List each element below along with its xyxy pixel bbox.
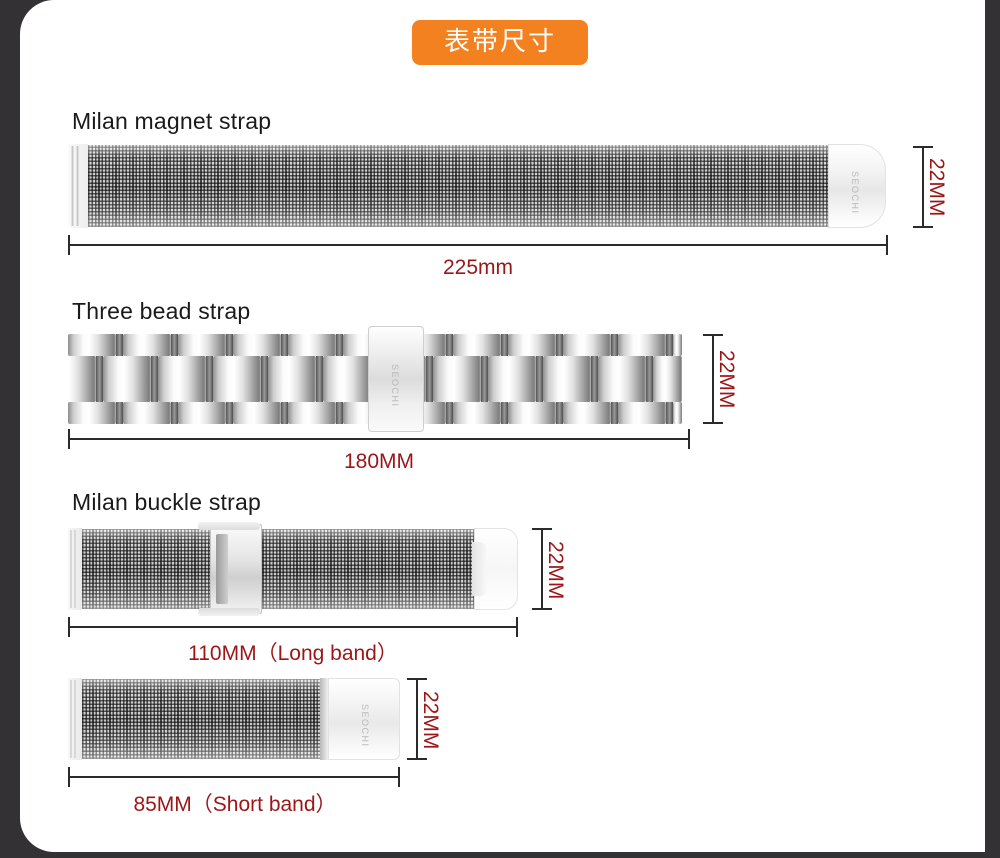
page-root: 表带尺寸 Milan magnet strap SEOCHI 22MM 225m…	[0, 0, 1000, 858]
section-title-milan-buckle-strap: Milan buckle strap	[72, 489, 261, 516]
dimension-rule-horizontal-1	[68, 244, 888, 246]
dimension-label-length-4: 85MM（Short band）	[40, 788, 430, 818]
dimension-rule-horizontal-3	[68, 626, 518, 628]
section-banner-title: 表带尺寸	[412, 20, 588, 65]
strap-three-bead: SEOCHI	[68, 334, 682, 424]
strap-milan-buckle-short-band: SEOCHI	[68, 678, 400, 760]
dimension-rule-horizontal-4	[68, 776, 400, 778]
product-info-card: 表带尺寸 Milan magnet strap SEOCHI 22MM 225m…	[20, 0, 985, 852]
dimension-label-length-3: 110MM（Long band）	[68, 637, 518, 667]
dimension-rule-horizontal-2	[68, 438, 690, 440]
card-right-edge	[985, 0, 1000, 858]
strap-milan-magnet: SEOCHI	[68, 144, 886, 228]
mesh-texture	[88, 145, 833, 227]
dimension-label-width-4: 22MM	[418, 691, 442, 749]
section-title-three-bead-strap: Three bead strap	[72, 298, 250, 325]
dimension-label-length-1: 225mm	[68, 256, 888, 280]
clasp-logo-text: SEOCHI	[850, 171, 860, 215]
dimension-label-length-2: 180MM	[68, 450, 690, 474]
mesh-texture-short	[82, 679, 324, 759]
section-title-milan-magnet-strap: Milan magnet strap	[72, 108, 271, 135]
strap-milan-buckle-long-band	[68, 528, 518, 610]
clasp-logo-text-three-bead: SEOCHI	[390, 364, 400, 408]
dimension-label-width-2: 22MM	[714, 350, 738, 408]
clasp-logo-text-short-band: SEOCHI	[360, 704, 370, 748]
mesh-texture-long	[82, 529, 482, 609]
dimension-label-width-1: 22MM	[924, 158, 948, 216]
dimension-label-width-3: 22MM	[543, 541, 567, 599]
